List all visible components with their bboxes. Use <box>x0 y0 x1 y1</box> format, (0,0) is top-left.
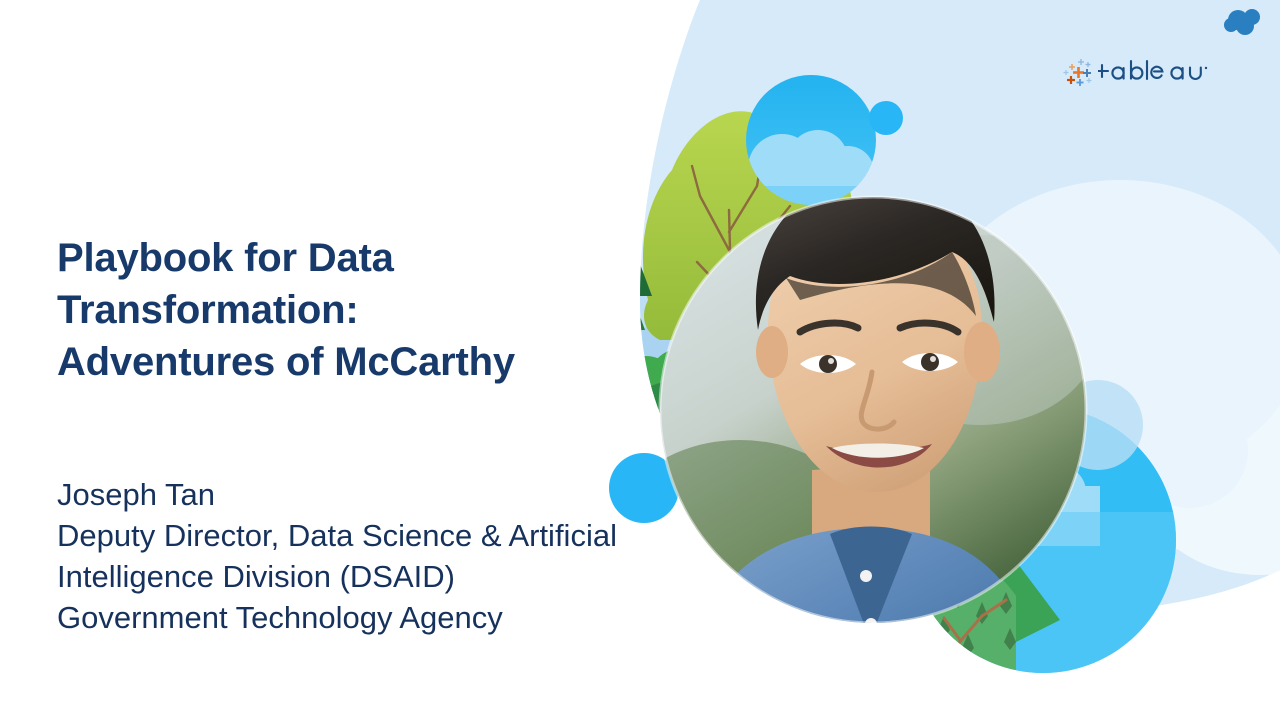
plus-blue-small-top <box>1078 59 1084 65</box>
tableau-logo <box>1062 56 1218 90</box>
slide-artwork <box>0 0 1280 720</box>
plus-orange-large <box>1073 67 1084 78</box>
tableau-logo-mark <box>1062 56 1096 90</box>
plus-orange-small-top <box>1069 64 1075 70</box>
title-slide: Playbook for Data Transformation: Advent… <box>0 0 1280 720</box>
tableau-wordmark-glyphs <box>1098 57 1218 87</box>
plus-blue-right <box>1083 69 1091 77</box>
small-blue-dot-top <box>869 101 903 135</box>
plus-blue-small-left <box>1064 70 1069 75</box>
plus-orange-lower <box>1067 76 1075 84</box>
plus-blue-lower <box>1077 79 1084 86</box>
plus-blue-small-topright <box>1086 62 1091 67</box>
trademark-dot <box>1205 67 1207 69</box>
tableau-wordmark <box>1098 57 1218 92</box>
plus-blue-small-bottomright <box>1087 78 1092 83</box>
